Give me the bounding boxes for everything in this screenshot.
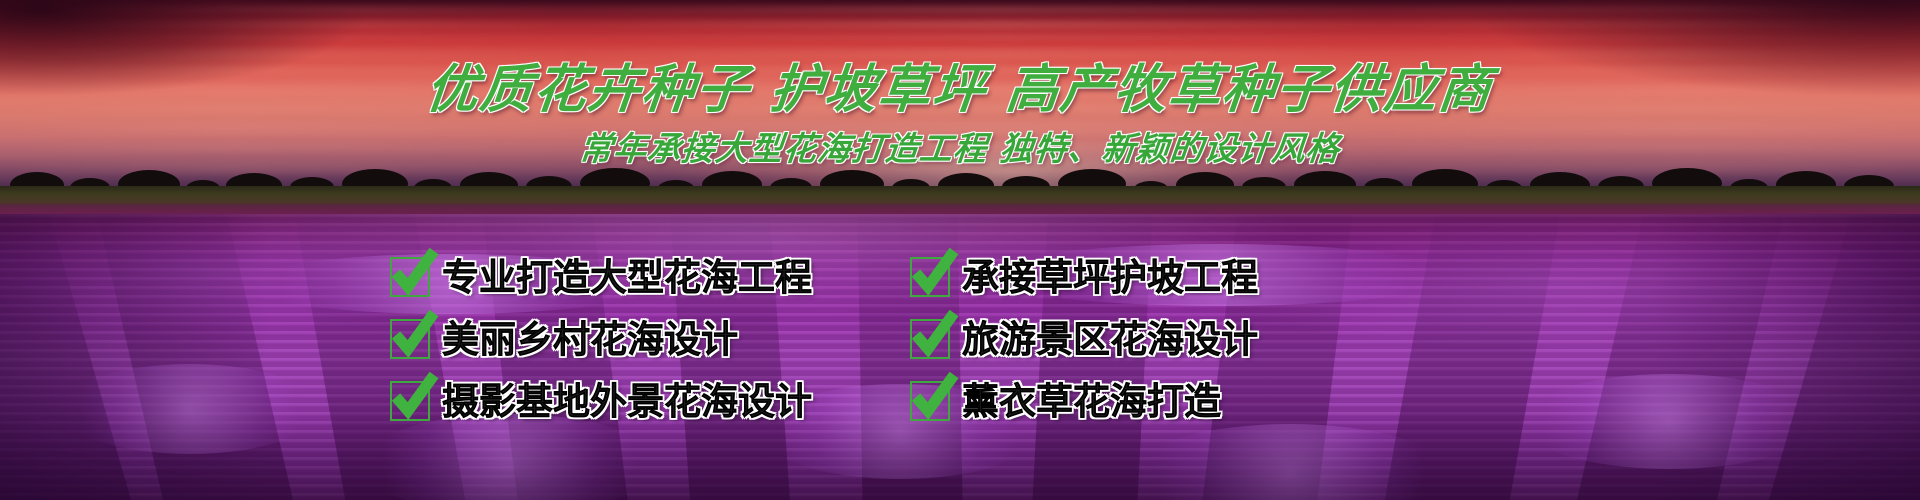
checklist-item[interactable]: 摄影基地外景花海设计 bbox=[390, 372, 870, 430]
checklist-item-label: 摄影基地外景花海设计 bbox=[442, 383, 812, 420]
checklist-item[interactable]: 美丽乡村花海设计 bbox=[390, 310, 870, 368]
checklist-item[interactable]: 承接草坪护坡工程 bbox=[886, 248, 1530, 306]
service-checklist: 专业打造大型花海工程 承接草坪护坡工程 美丽乡村花海设计 bbox=[390, 248, 1530, 430]
check-mark-icon bbox=[910, 319, 950, 359]
checklist-item-label: 旅游景区花海设计 bbox=[962, 321, 1258, 358]
banner-content: 优质花卉种子 护坡草坪 高产牧草种子供应商 常年承接大型花海打造工程 独特、新颖… bbox=[0, 0, 1920, 500]
check-mark-icon bbox=[390, 257, 430, 297]
banner-headline: 优质花卉种子 护坡草坪 高产牧草种子供应商 bbox=[0, 47, 1920, 122]
check-mark-icon bbox=[910, 381, 950, 421]
checklist-item[interactable]: 旅游景区花海设计 bbox=[886, 310, 1530, 368]
banner-subheadline: 常年承接大型花海打造工程 独特、新颖的设计风格 bbox=[0, 122, 1920, 170]
check-mark-icon bbox=[390, 381, 430, 421]
check-mark-icon bbox=[910, 257, 950, 297]
checklist-item-label: 承接草坪护坡工程 bbox=[962, 259, 1258, 296]
checklist-item-label: 美丽乡村花海设计 bbox=[442, 321, 738, 358]
checklist-item-label: 薰衣草花海打造 bbox=[962, 383, 1221, 420]
checklist-item-label: 专业打造大型花海工程 bbox=[442, 259, 812, 296]
check-mark-icon bbox=[390, 319, 430, 359]
checklist-item[interactable]: 专业打造大型花海工程 bbox=[390, 248, 870, 306]
checklist-item[interactable]: 薰衣草花海打造 bbox=[886, 372, 1530, 430]
promo-banner: 优质花卉种子 护坡草坪 高产牧草种子供应商 常年承接大型花海打造工程 独特、新颖… bbox=[0, 0, 1920, 500]
